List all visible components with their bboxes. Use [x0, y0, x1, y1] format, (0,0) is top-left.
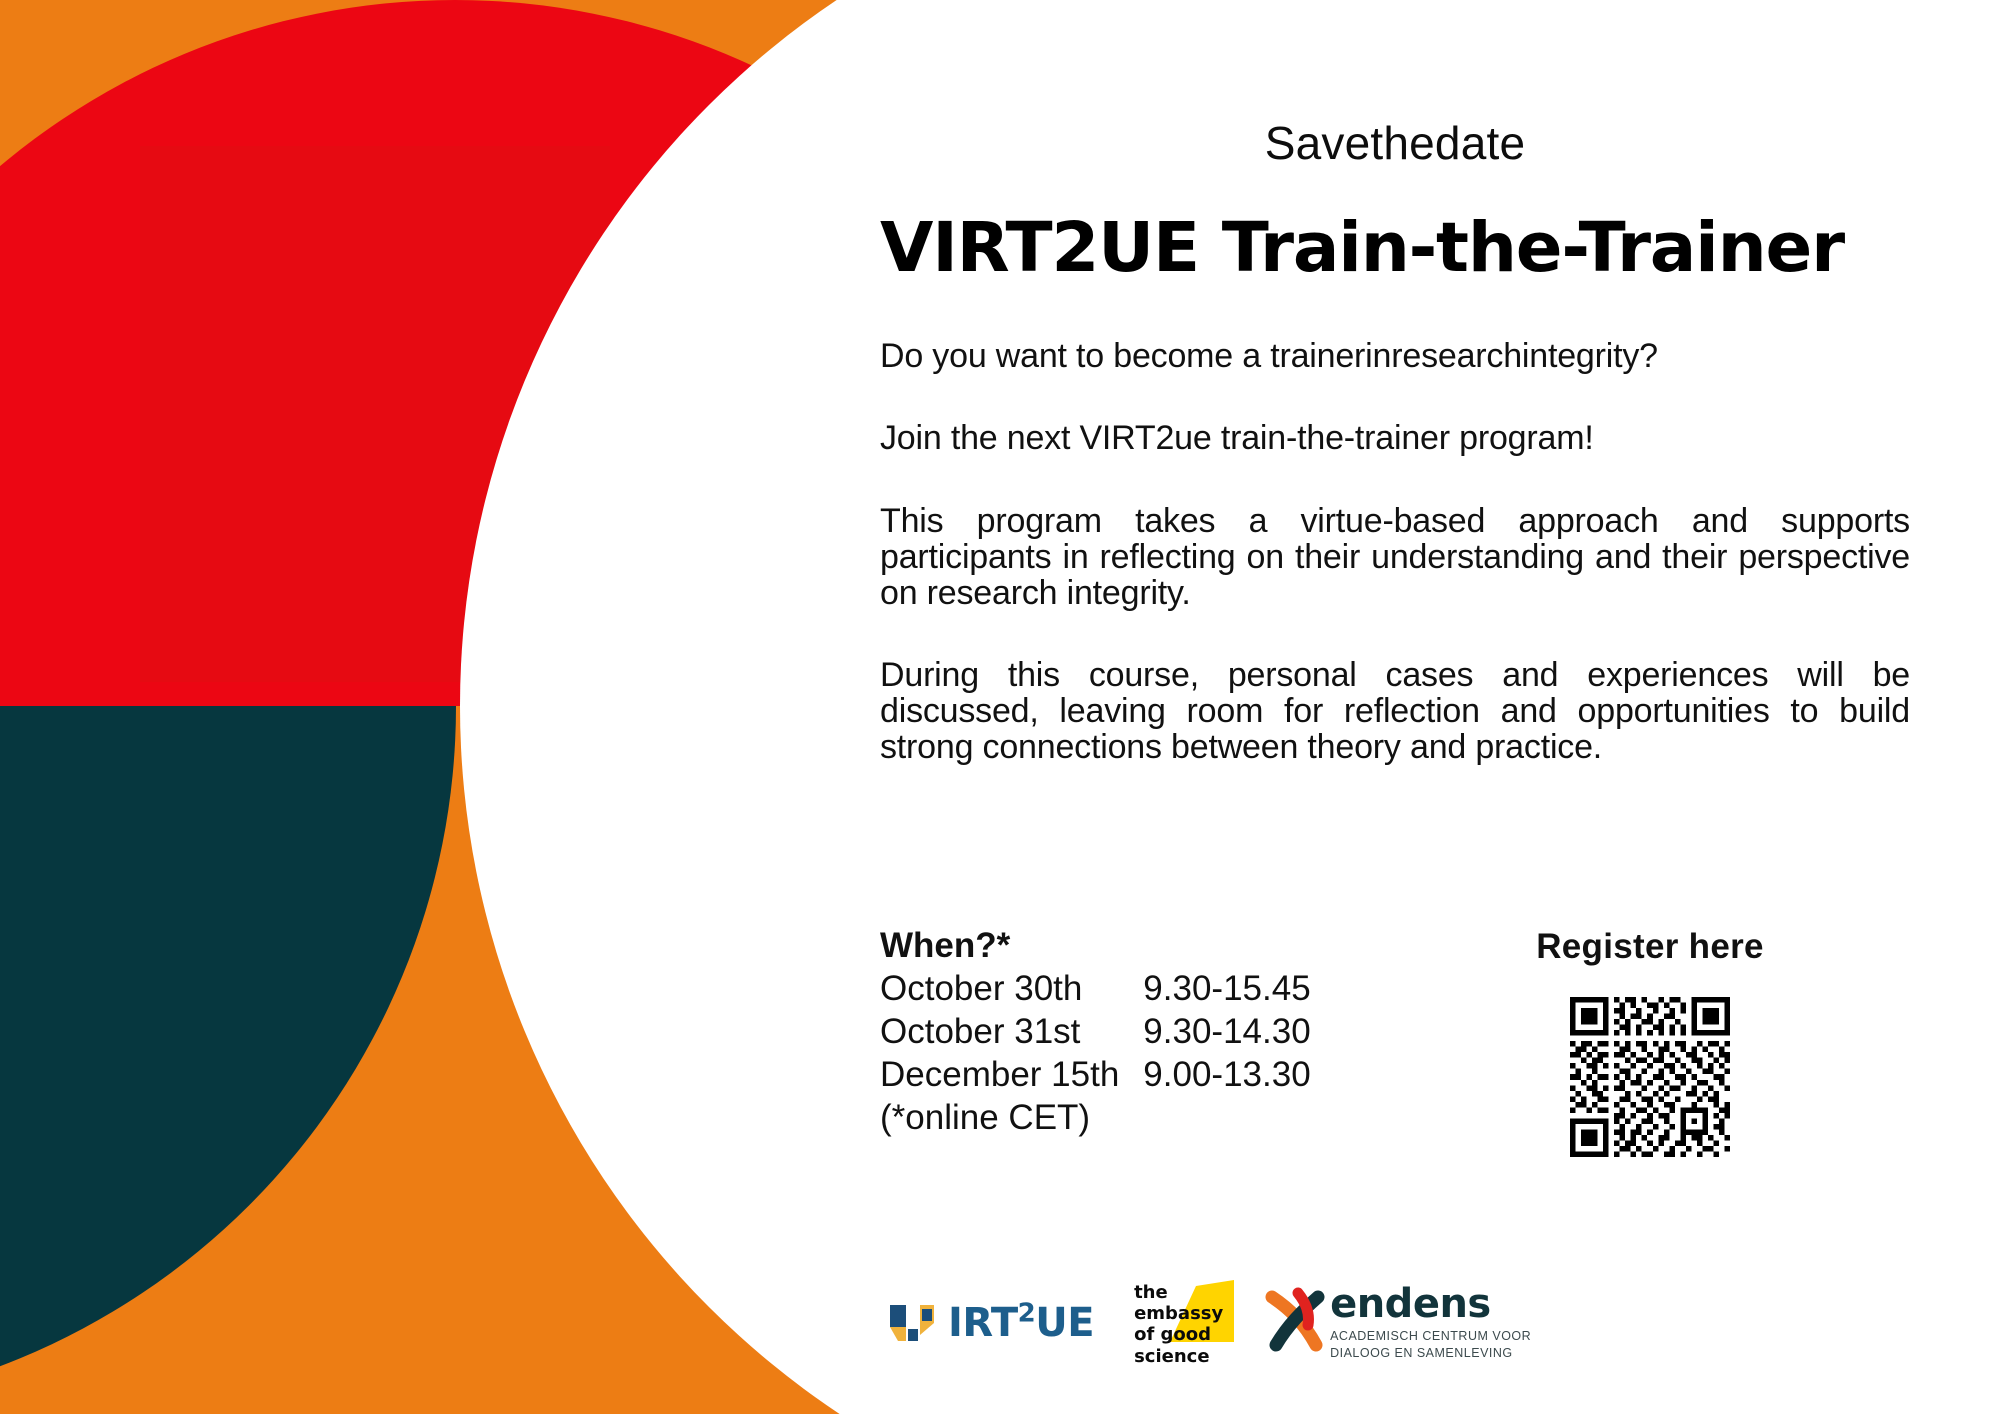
- virt2ue-logo: IRT2UE: [888, 1299, 1094, 1347]
- embassy-of-good-science-logo: the embassy of good science: [1134, 1280, 1234, 1366]
- xendens-tagline-line-1: ACADEMISCH CENTRUM VOOR: [1330, 1328, 1531, 1345]
- xendens-tagline-line-2: DIALOOG EN SAMENLEVING: [1330, 1345, 1531, 1362]
- xendens-text-block: endens ACADEMISCH CENTRUM VOOR DIALOOG E…: [1330, 1284, 1531, 1362]
- xendens-x-mark-icon: [1264, 1287, 1336, 1359]
- embassy-wordmark: the embassy of good science: [1134, 1282, 1223, 1367]
- schedule-time: 9.30-15.45: [1143, 968, 1310, 1011]
- intro-question: Do you want to become a trainerinresearc…: [880, 338, 1910, 374]
- virt2ue-word-before: IRT: [948, 1300, 1018, 1346]
- virt2ue-wordmark: IRT2UE: [948, 1303, 1094, 1343]
- xendens-wordmark: endens: [1330, 1284, 1531, 1324]
- when-block: When?* October 30th 9.30-15.45 October 3…: [880, 925, 1400, 1139]
- qr-code-icon[interactable]: [1570, 997, 1730, 1157]
- embassy-line-3: of good: [1134, 1324, 1223, 1345]
- table-row: December 15th 9.00-13.30: [880, 1054, 1311, 1097]
- content-column: Savethedate VIRT2UE Train-the-Trainer Do…: [880, 0, 1910, 1414]
- embassy-line-4: science: [1134, 1346, 1223, 1367]
- register-heading: Register here: [1430, 927, 1870, 967]
- footer-logos: IRT2UE the embassy of good science: [880, 1280, 1918, 1366]
- schedule-date: October 30th: [880, 968, 1143, 1011]
- xendens-tagline: ACADEMISCH CENTRUM VOOR DIALOOG EN SAMEN…: [1330, 1328, 1531, 1362]
- schedule-date: December 15th: [880, 1054, 1143, 1097]
- embassy-line-2: embassy: [1134, 1303, 1223, 1324]
- qr-code-wrapper[interactable]: [1430, 997, 1870, 1157]
- program-description: This program takes a virtue-based approa…: [880, 503, 1910, 611]
- table-row: October 31st 9.30-14.30: [880, 1011, 1311, 1054]
- virt2ue-word-after: UE: [1035, 1300, 1094, 1346]
- embassy-line-1: the: [1134, 1282, 1223, 1303]
- schedule-note: (*online CET): [880, 1097, 1400, 1139]
- join-line: Join the next VIRT2ue train-the-trainer …: [880, 420, 1910, 456]
- xendens-logo: endens ACADEMISCH CENTRUM VOOR DIALOOG E…: [1264, 1284, 1531, 1362]
- virt2ue-superscript: 2: [1018, 1299, 1036, 1329]
- schedule-date: October 31st: [880, 1011, 1143, 1054]
- page-title: VIRT2UE Train-the-Trainer: [880, 166, 1910, 284]
- schedule-table: October 30th 9.30-15.45 October 31st 9.3…: [880, 968, 1311, 1097]
- course-description: During this course, personal cases and e…: [880, 657, 1910, 765]
- kicker-savethedate: Savethedate: [880, 0, 1910, 166]
- schedule-time: 9.30-14.30: [1143, 1011, 1310, 1054]
- when-heading: When?*: [880, 925, 1400, 966]
- register-block: Register here: [1400, 925, 1870, 1157]
- schedule-time: 9.00-13.30: [1143, 1054, 1310, 1097]
- table-row: October 30th 9.30-15.45: [880, 968, 1311, 1011]
- body-copy: Do you want to become a trainerinresearc…: [880, 284, 1910, 764]
- poster-canvas: Savethedate VIRT2UE Train-the-Trainer Do…: [0, 0, 2000, 1414]
- virt2ue-v-mark-icon: [888, 1299, 946, 1347]
- schedule-and-register-row: When?* October 30th 9.30-15.45 October 3…: [880, 925, 1910, 1157]
